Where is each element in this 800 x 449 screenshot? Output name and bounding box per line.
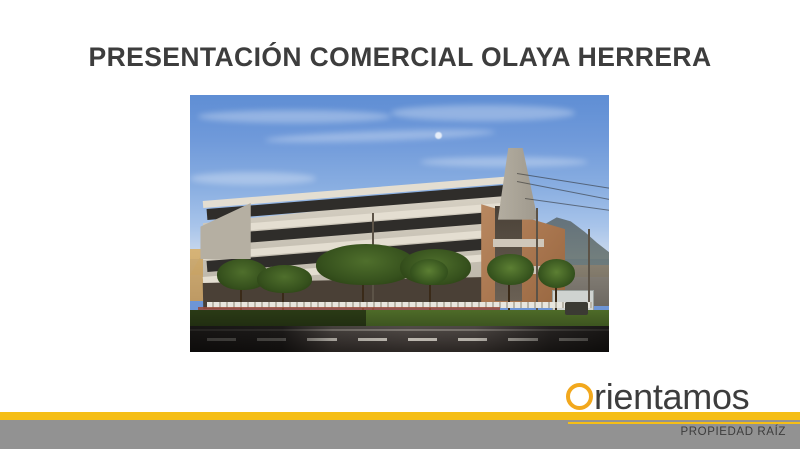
road-shadow [190, 326, 609, 352]
logo-tagline: PROPIEDAD RAÍZ [680, 426, 786, 438]
logo-wordmark: rientamos [594, 379, 749, 415]
orientamos-logo[interactable]: rientamos [566, 378, 749, 414]
accent-rule-thin [568, 422, 800, 424]
logo-o-ring-icon [566, 383, 593, 410]
palm-tree [410, 259, 448, 285]
building-photo [190, 95, 609, 352]
photo-canvas [190, 95, 609, 352]
presentation-slide: PRESENTACIÓN COMERCIAL OLAYA HERRERA [0, 0, 800, 449]
motorcycle [565, 302, 588, 315]
utility-pole [588, 229, 590, 306]
palm-tree [538, 259, 576, 287]
cloud-wisp [391, 105, 575, 120]
median-shadow [190, 310, 366, 327]
cloud-wisp [190, 172, 316, 185]
page-title: PRESENTACIÓN COMERCIAL OLAYA HERRERA [0, 42, 800, 73]
palm-tree [487, 254, 533, 285]
tree [257, 265, 311, 293]
utility-pole [536, 208, 538, 311]
cloud-wisp [420, 157, 588, 167]
